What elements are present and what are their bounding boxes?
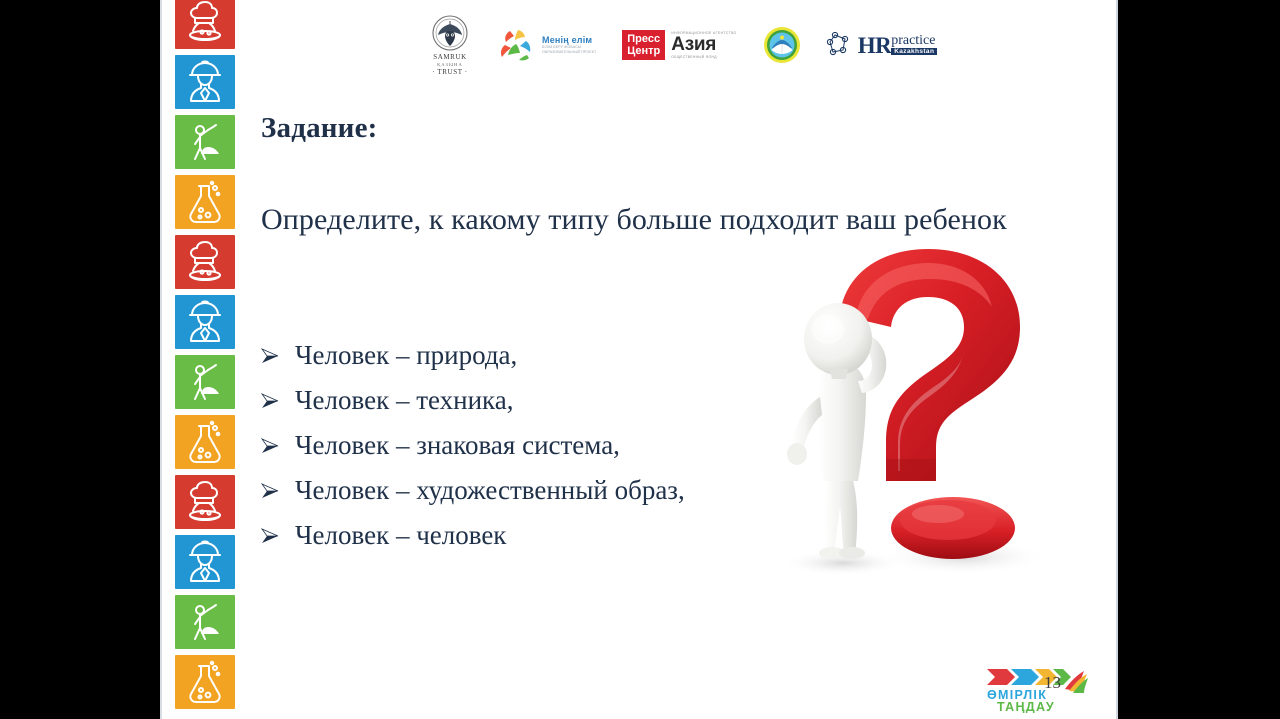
- menin-elim-title: Менің елім: [542, 35, 596, 45]
- chemistry-flask-icon: [175, 415, 235, 469]
- chemistry-flask-icon: [175, 175, 235, 229]
- slide-left-edge: [160, 0, 162, 719]
- kazakhstan-emblem-icon: [763, 26, 801, 64]
- chef-cook-icon: [175, 0, 235, 49]
- asia-bottom-caption: ОБЩЕСТВЕННЫЙ ФОНД: [671, 55, 736, 59]
- arrowhead-bullet-icon: [261, 483, 279, 499]
- chef-cook-icon: [175, 235, 235, 289]
- rail-icon-chemist: [175, 415, 235, 469]
- rail-icon-welder: [175, 355, 235, 409]
- flame-ribbon-icon: [1065, 671, 1088, 693]
- rail-icon-chef: [175, 0, 235, 49]
- arrowhead-bullet-icon: [261, 528, 279, 544]
- press-center-box: Пресс Центр: [622, 30, 665, 60]
- bullet-arrow: [261, 512, 295, 544]
- page-number: 13: [1044, 673, 1061, 693]
- list-item-label: Человек – природа,: [295, 333, 517, 377]
- rail-icon-engineer: [175, 535, 235, 589]
- omirlik-tandau-logo: ӨМІРЛІК ТАҢДАУ: [985, 665, 1090, 713]
- chef-cook-icon: [175, 475, 235, 529]
- rail-icon-chemist: [175, 655, 235, 709]
- press-center-asia-logo: Пресс Центр ИНФОРМАЦИОННОЕ АГЕНТСТВО Ази…: [622, 30, 736, 60]
- slide-canvas: SAMRUK ҚАЗЫНА · TRUST · Менің елім Б: [160, 0, 1118, 719]
- partner-logo-bar: SAMRUK ҚАЗЫНА · TRUST · Менің елім Б: [430, 14, 1070, 76]
- samruk-line3: · TRUST ·: [432, 69, 467, 77]
- samruk-falcon-icon: [430, 14, 470, 54]
- hr-practice-right: practice Kazakhstan: [891, 34, 937, 55]
- rail-icon-welder: [175, 595, 235, 649]
- asia-wordmark: Азия: [671, 35, 736, 55]
- list-item-label: Человек – техника,: [295, 378, 513, 422]
- arrowhead-bullet-icon: [261, 348, 279, 364]
- task-prompt: Определите, к какому типу больше подходи…: [261, 198, 1051, 242]
- bullet-arrow: [261, 422, 295, 454]
- question-mark-figure-illustration: [748, 245, 1088, 585]
- hardhat-engineer-icon: [175, 295, 235, 349]
- rail-icon-chemist: [175, 175, 235, 229]
- hr-practice-kazakhstan-logo: HR practice Kazakhstan: [827, 30, 938, 60]
- rail-icon-chef: [175, 475, 235, 529]
- rail-icon-welder: [175, 115, 235, 169]
- hr-network-nodes-icon: [827, 30, 855, 60]
- list-item-label: Человек – знаковая система,: [295, 423, 620, 467]
- slide-right-edge: [1116, 0, 1118, 719]
- presentation-viewer: SAMRUK ҚАЗЫНА · TRUST · Менің елім Б: [0, 0, 1280, 719]
- menin-elim-sub2: ОБРАЗОВАТЕЛЬНЫЙ ПРОЕКТ: [542, 50, 596, 55]
- profession-icon-rail: [175, 0, 235, 719]
- hardhat-engineer-icon: [175, 55, 235, 109]
- hr-kazakhstan-badge: Kazakhstan: [891, 48, 937, 55]
- rail-icon-engineer: [175, 295, 235, 349]
- arrowhead-bullet-icon: [261, 438, 279, 454]
- menin-elim-logo: Менің елім БІЛІМ БЕРУ ЖОБАСЫ ОБРАЗОВАТЕЛ…: [496, 25, 596, 65]
- list-item-label: Человек – человек: [295, 513, 506, 557]
- list-item-label: Человек – художественный образ,: [295, 468, 685, 512]
- menin-elim-petals-icon: [496, 25, 538, 65]
- bullet-arrow: [261, 332, 295, 364]
- samruk-logo-text: SAMRUK ҚАЗЫНА · TRUST ·: [432, 54, 467, 77]
- samruk-trust-logo: SAMRUK ҚАЗЫНА · TRUST ·: [430, 14, 470, 77]
- rail-icon-engineer: [175, 55, 235, 109]
- samruk-line1: SAMRUK: [432, 54, 467, 62]
- welder-worker-icon: [175, 355, 235, 409]
- bullet-arrow: [261, 467, 295, 499]
- welder-worker-icon: [175, 115, 235, 169]
- press-box-line2: Центр: [627, 45, 660, 57]
- press-box-line1: Пресс: [627, 33, 660, 45]
- chemistry-flask-icon: [175, 655, 235, 709]
- rail-icon-chef: [175, 235, 235, 289]
- task-title: Задание:: [261, 112, 378, 145]
- hr-practice-word: practice: [891, 34, 937, 47]
- arrowhead-bullet-icon: [261, 393, 279, 409]
- asia-text-column: ИНФОРМАЦИОННОЕ АГЕНТСТВО Азия ОБЩЕСТВЕНН…: [665, 31, 736, 59]
- bullet-arrow: [261, 377, 295, 409]
- menin-elim-text: Менің елім БІЛІМ БЕРУ ЖОБАСЫ ОБРАЗОВАТЕЛ…: [542, 35, 596, 54]
- hardhat-engineer-icon: [175, 535, 235, 589]
- welder-worker-icon: [175, 595, 235, 649]
- hr-practice-text: HR practice Kazakhstan: [858, 34, 938, 57]
- kazakhstan-emblem-logo: [763, 26, 801, 64]
- hr-wordmark: HR: [858, 34, 892, 57]
- tandau-word: ТАҢДАУ: [997, 700, 1055, 713]
